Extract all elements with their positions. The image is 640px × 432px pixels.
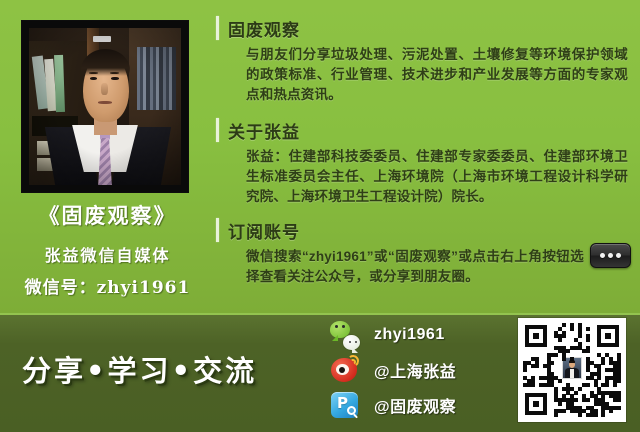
qr-timing-module [578,346,582,350]
qr-module [586,398,590,402]
qr-module [574,391,578,395]
section-body-text: 与朋友们分享垃圾处理、污泥处置、土壤修复等环境保护领域的政策标准、行业管理、技术… [214,45,640,105]
social-label: zhyi1961 [374,326,445,344]
ellipsis-icon [616,253,621,258]
section-about-channel: 固废观察 与朋友们分享垃圾处理、污泥处置、土壤修复等环境保护领域的政策标准、行业… [214,14,640,105]
qr-module [531,383,535,387]
qr-timing-module [547,368,551,372]
section-subscribe: 订阅账号 微信搜索“zhyi1961”或“固废观察”或点击右上角按钮选择查看关注… [214,216,640,287]
qr-module [562,323,566,327]
section-header: 订阅账号 [214,216,640,244]
qr-module [574,398,578,402]
ellipsis-icon [608,253,613,258]
qr-module [558,379,562,383]
qr-module [605,383,609,387]
qr-finder-icon [597,325,619,347]
qr-module [550,361,554,365]
photo-vignette [29,28,181,185]
section-rule-icon [216,118,219,142]
section-heading: 订阅账号 [228,218,300,243]
social-label: @固废观察 [374,393,456,417]
qr-module [613,383,617,387]
qr-module [562,357,566,361]
left-column: 《固废观察》 张益微信自媒体 微信号：zhyi1961 [0,0,215,313]
section-heading: 固废观察 [228,16,300,41]
qr-module [601,413,605,417]
qr-timing-module [547,361,551,365]
social-row-search[interactable]: P @固废观察 [330,389,456,421]
qr-module [586,383,590,387]
qr-module [586,327,590,331]
qr-timing-module [586,346,590,350]
section-header: 关于张益 [214,116,640,144]
wechat-id-line: 微信号：zhyi1961 [0,273,215,298]
qr-module [617,379,621,383]
qr-module [558,402,562,406]
qr-code[interactable] [518,318,626,422]
section-body-text: 张益：住建部科技委委员、住建部专家委委员、住建部环境卫生标准委员会主任、上海环境… [214,147,640,207]
wechat-promo-poster: 《固废观察》 张益微信自媒体 微信号：zhyi1961 固废观察 与朋友们分享垃… [0,0,640,432]
social-accounts-list: zhyi1961 @上海张益 P @固废观察 [330,315,510,427]
section-rule-icon [216,16,219,40]
qr-module [562,409,566,413]
publication-subtitle: 张益微信自媒体 [0,242,215,266]
qr-timing-module [570,346,574,350]
qr-finder-icon [525,393,547,415]
section-about-author: 关于张益 张益：住建部科技委委员、住建部专家委委员、住建部环境卫生标准委员会主任… [214,116,640,207]
portrait-photo-frame [22,21,188,192]
qr-timing-module [554,346,558,350]
qr-module [535,364,539,368]
wechat-icon [330,320,360,350]
qr-module [594,413,598,417]
qr-finder-icon [525,325,547,347]
search-icon: P [330,390,360,420]
qr-module [578,413,582,417]
more-options-button[interactable] [590,243,631,268]
section-heading: 关于张益 [228,118,300,143]
qr-module [601,361,605,365]
right-column: 固废观察 与朋友们分享垃圾处理、污泥处置、土壤修复等环境保护领域的政策标准、行业… [214,0,640,313]
qr-module [566,349,570,353]
section-rule-icon [216,218,219,242]
social-row-wechat[interactable]: zhyi1961 [330,319,445,351]
qr-module [586,338,590,342]
section-header: 固废观察 [214,14,640,42]
qr-module [558,338,562,342]
qr-timing-module [562,346,566,350]
qr-timing-module [547,383,551,387]
qr-module [554,413,558,417]
qr-module [523,368,527,372]
qr-module [586,349,590,353]
publication-title: 《固废观察》 [0,200,215,230]
qr-module [617,398,621,402]
qr-module [554,353,558,357]
weibo-icon [330,355,360,385]
qr-module [570,357,574,361]
qr-code-matrix [523,323,621,417]
qr-module [597,376,601,380]
qr-module [578,387,582,391]
ellipsis-icon [600,253,605,258]
qr-module [570,327,574,331]
qr-module [617,406,621,410]
qr-timing-module [547,376,551,380]
social-label: @上海张益 [374,358,456,382]
qr-module [578,334,582,338]
portrait-photo [29,28,181,185]
social-row-weibo[interactable]: @上海张益 [330,354,456,386]
qr-timing-module [547,353,551,357]
section-body-text: 微信搜索“zhyi1961”或“固废观察”或点击右上角按钮选择查看关注公众号，或… [214,247,640,287]
slogan-text: 分享•学习•交流 [22,348,257,390]
qr-module [562,334,566,338]
qr-module [609,409,613,413]
